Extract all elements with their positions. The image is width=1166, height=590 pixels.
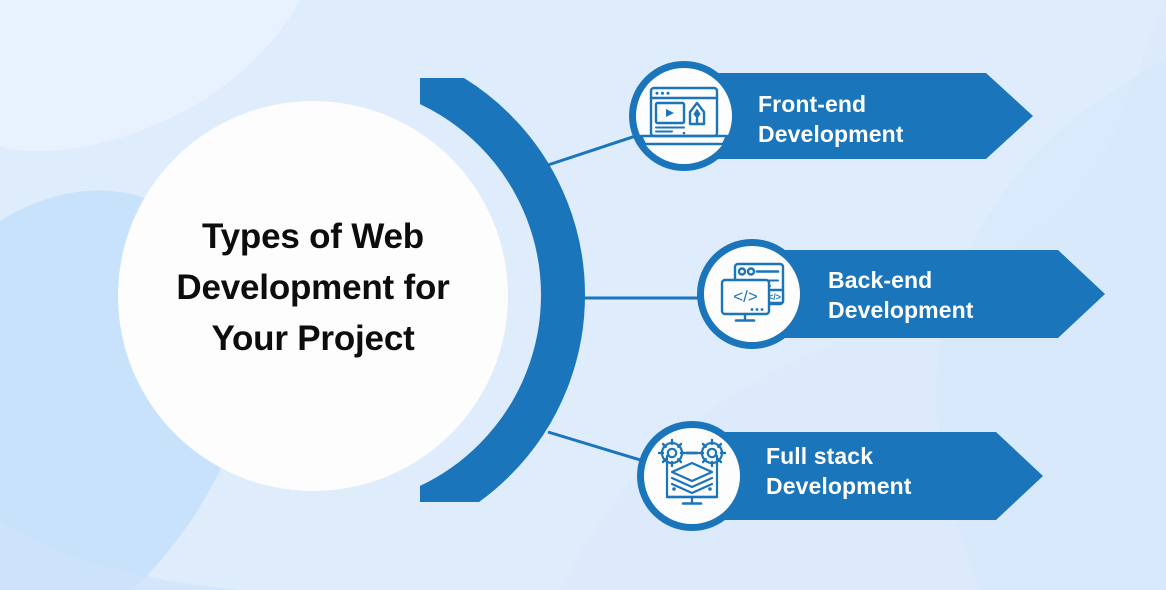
svg-text:</>: </>	[733, 287, 758, 306]
branch-label-front-end: Front-end Development	[758, 89, 904, 150]
branch-label-full-stack: Full stack Development	[766, 441, 912, 502]
infographic-root: </> </>	[0, 0, 1166, 590]
hub-title: Types of Web Development for Your Projec…	[148, 212, 478, 364]
branch-label-back-end: Back-end Development	[828, 265, 974, 326]
